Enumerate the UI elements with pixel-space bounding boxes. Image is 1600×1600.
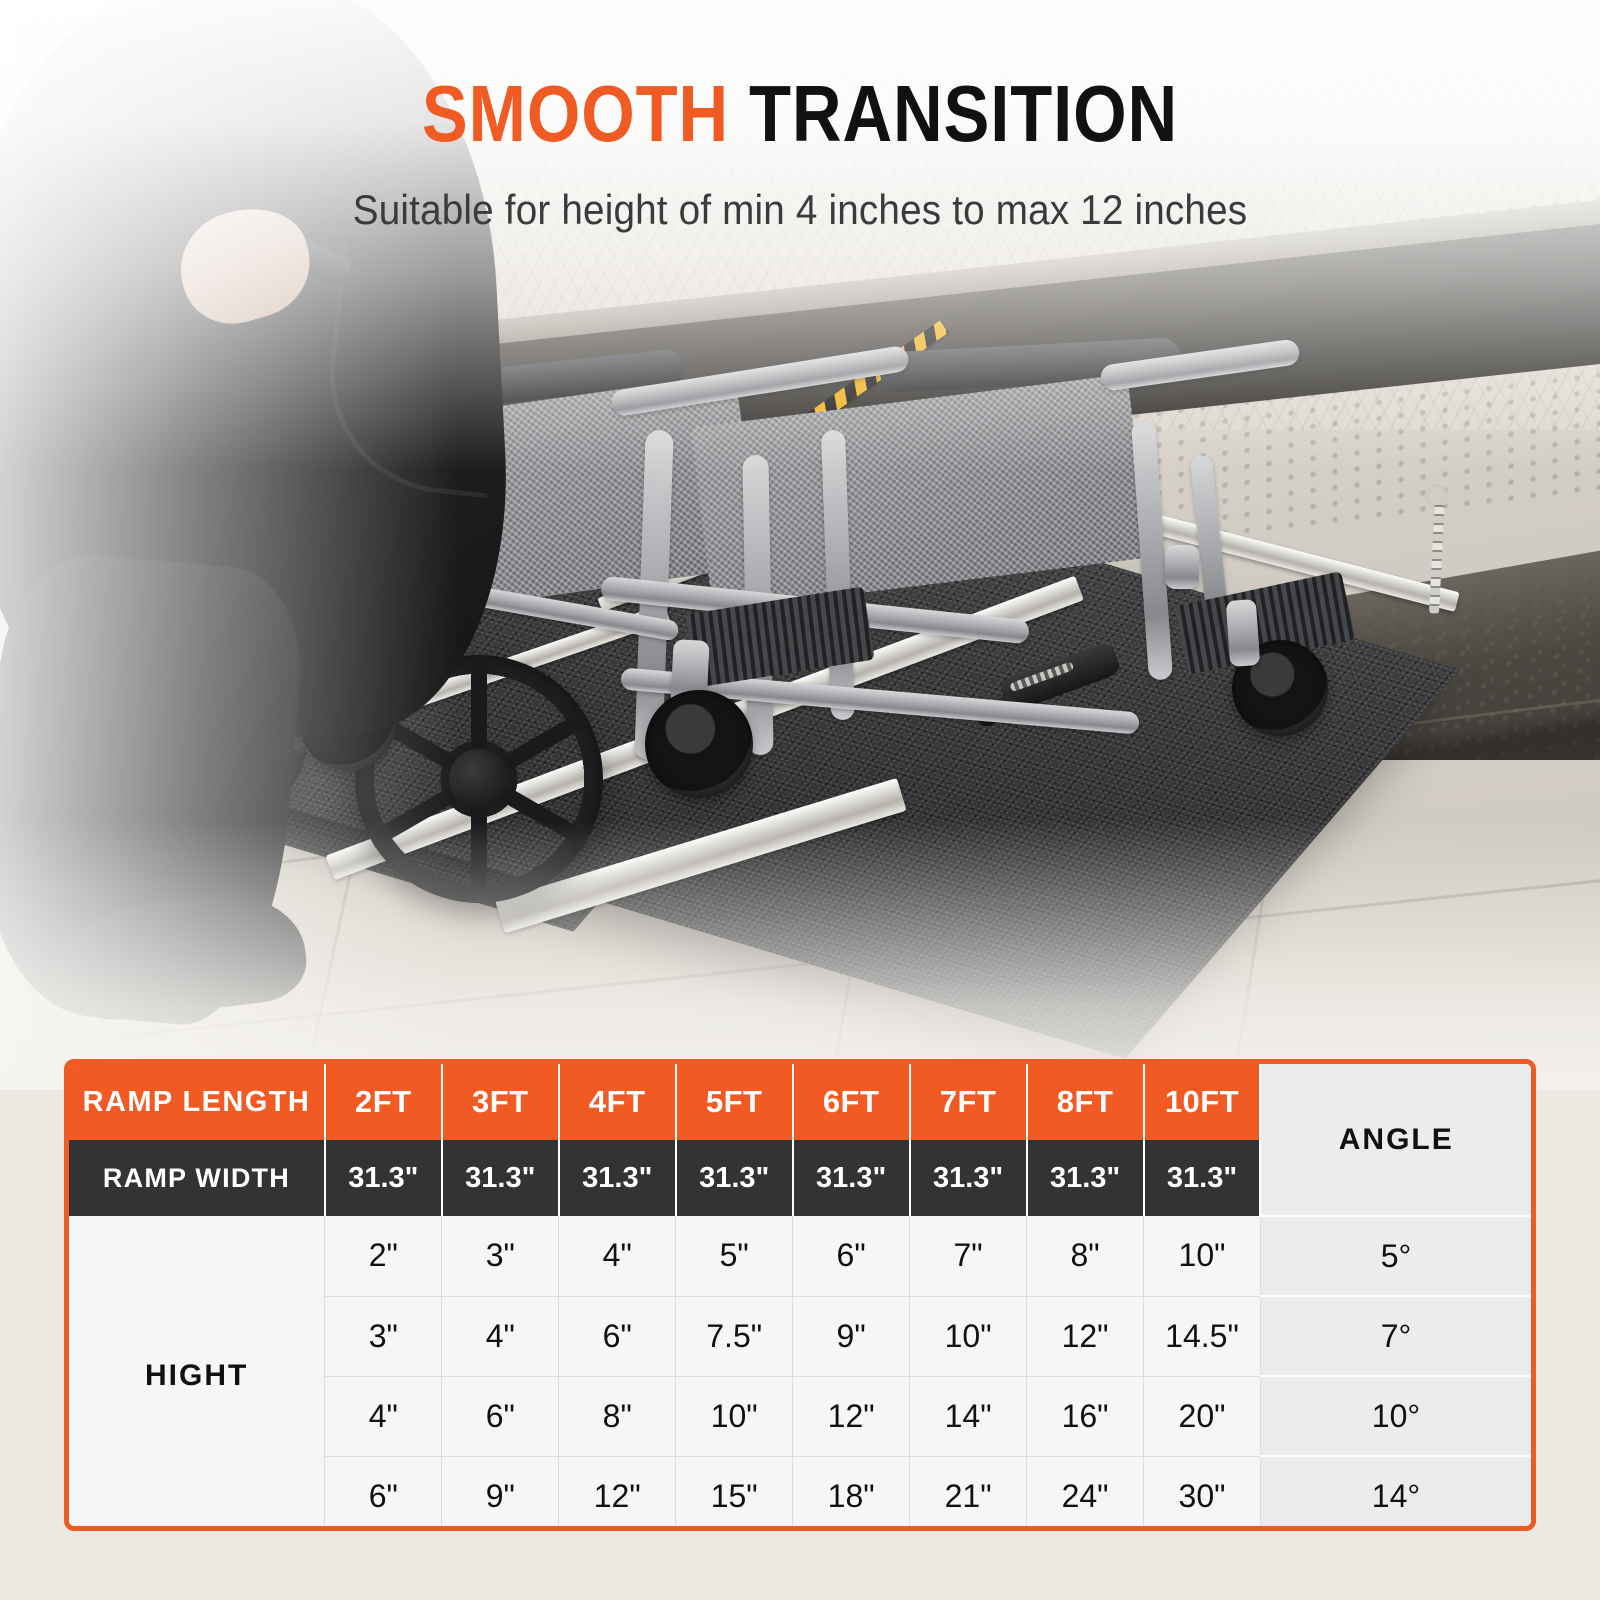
- cell-height-2-4: 12": [793, 1376, 910, 1456]
- cell-angle-2: 10°: [1260, 1376, 1531, 1456]
- cell-height-3-5: 21": [910, 1456, 1027, 1531]
- page-title: SMOOTH TRANSITION: [112, 74, 1488, 154]
- cell-height-3-0: 6": [325, 1456, 442, 1531]
- cell-height-1-3: 7.5": [676, 1296, 793, 1376]
- cell-height-1-2: 6": [559, 1296, 676, 1376]
- row-label-hight: HIGHT: [69, 1216, 325, 1531]
- header-length-1: 3FT: [442, 1064, 559, 1140]
- header-length-5: 7FT: [910, 1064, 1027, 1140]
- header-length-7: 10FT: [1144, 1064, 1261, 1140]
- cell-height-0-7: 10": [1144, 1216, 1261, 1296]
- cell-width-4: 31.3": [793, 1140, 910, 1216]
- caster-wheel-front: [645, 690, 753, 798]
- cell-height-1-6: 12": [1027, 1296, 1144, 1376]
- header-length-3: 5FT: [676, 1064, 793, 1140]
- cell-angle-0: 5°: [1260, 1216, 1531, 1296]
- cell-width-3: 31.3": [676, 1140, 793, 1216]
- cell-height-2-0: 4": [325, 1376, 442, 1456]
- spec-table: RAMP LENGTH 2FT 3FT 4FT 5FT 6FT 7FT 8FT …: [69, 1064, 1531, 1531]
- page-subtitle: Suitable for height of min 4 inches to m…: [64, 186, 1536, 234]
- header-length-4: 6FT: [793, 1064, 910, 1140]
- header-row-ramp-length: RAMP LENGTH 2FT 3FT 4FT 5FT 6FT 7FT 8FT …: [69, 1064, 1531, 1140]
- cell-height-3-3: 15": [676, 1456, 793, 1531]
- cell-width-7: 31.3": [1144, 1140, 1261, 1216]
- cell-height-2-6: 16": [1027, 1376, 1144, 1456]
- title-rest: TRANSITION: [749, 69, 1178, 158]
- cell-height-3-1: 9": [442, 1456, 559, 1531]
- cell-height-2-1: 6": [442, 1376, 559, 1456]
- cell-height-0-2: 4": [559, 1216, 676, 1296]
- header-length-2: 4FT: [559, 1064, 676, 1140]
- table-row: HIGHT 2" 3" 4" 5" 6" 7" 8" 10" 5°: [69, 1216, 1531, 1296]
- cell-height-1-7: 14.5": [1144, 1296, 1261, 1376]
- cell-width-6: 31.3": [1027, 1140, 1144, 1216]
- cell-width-2: 31.3": [559, 1140, 676, 1216]
- header-ramp-width-label: RAMP WIDTH: [69, 1140, 325, 1216]
- cell-height-1-0: 3": [325, 1296, 442, 1376]
- cell-width-1: 31.3": [442, 1140, 559, 1216]
- spec-table-card: RAMP LENGTH 2FT 3FT 4FT 5FT 6FT 7FT 8FT …: [64, 1059, 1536, 1531]
- cell-height-0-4: 6": [793, 1216, 910, 1296]
- cell-height-0-0: 2": [325, 1216, 442, 1296]
- cell-height-0-1: 3": [442, 1216, 559, 1296]
- cell-height-3-6: 24": [1027, 1456, 1144, 1531]
- cell-height-1-1: 4": [442, 1296, 559, 1376]
- caster-fork-right: [1226, 599, 1261, 667]
- cell-height-0-3: 5": [676, 1216, 793, 1296]
- cell-height-2-2: 8": [559, 1376, 676, 1456]
- header-length-0: 2FT: [325, 1064, 442, 1140]
- cell-height-2-5: 14": [910, 1376, 1027, 1456]
- cell-width-0: 31.3": [325, 1140, 442, 1216]
- wheel-hub: [449, 749, 509, 809]
- infographic-page: SMOOTH TRANSITION Suitable for height of…: [0, 0, 1600, 1600]
- cell-height-3-4: 18": [793, 1456, 910, 1531]
- product-photo: [0, 0, 1600, 1090]
- cell-height-0-6: 8": [1027, 1216, 1144, 1296]
- caster-mount: [1165, 545, 1199, 589]
- cell-height-3-7: 30": [1144, 1456, 1261, 1531]
- title-highlight: SMOOTH: [422, 69, 729, 158]
- cell-angle-3: 14°: [1260, 1456, 1531, 1531]
- cell-angle-1: 7°: [1260, 1296, 1531, 1376]
- header-length-6: 8FT: [1027, 1064, 1144, 1140]
- cell-height-1-4: 9": [793, 1296, 910, 1376]
- cell-width-5: 31.3": [910, 1140, 1027, 1216]
- header-ramp-length-label: RAMP LENGTH: [69, 1064, 325, 1140]
- cell-height-2-7: 20": [1144, 1376, 1261, 1456]
- cell-height-1-5: 10": [910, 1296, 1027, 1376]
- cell-height-2-3: 10": [676, 1376, 793, 1456]
- cell-height-3-2: 12": [559, 1456, 676, 1531]
- header-angle-label: ANGLE: [1260, 1064, 1531, 1216]
- cell-height-0-5: 7": [910, 1216, 1027, 1296]
